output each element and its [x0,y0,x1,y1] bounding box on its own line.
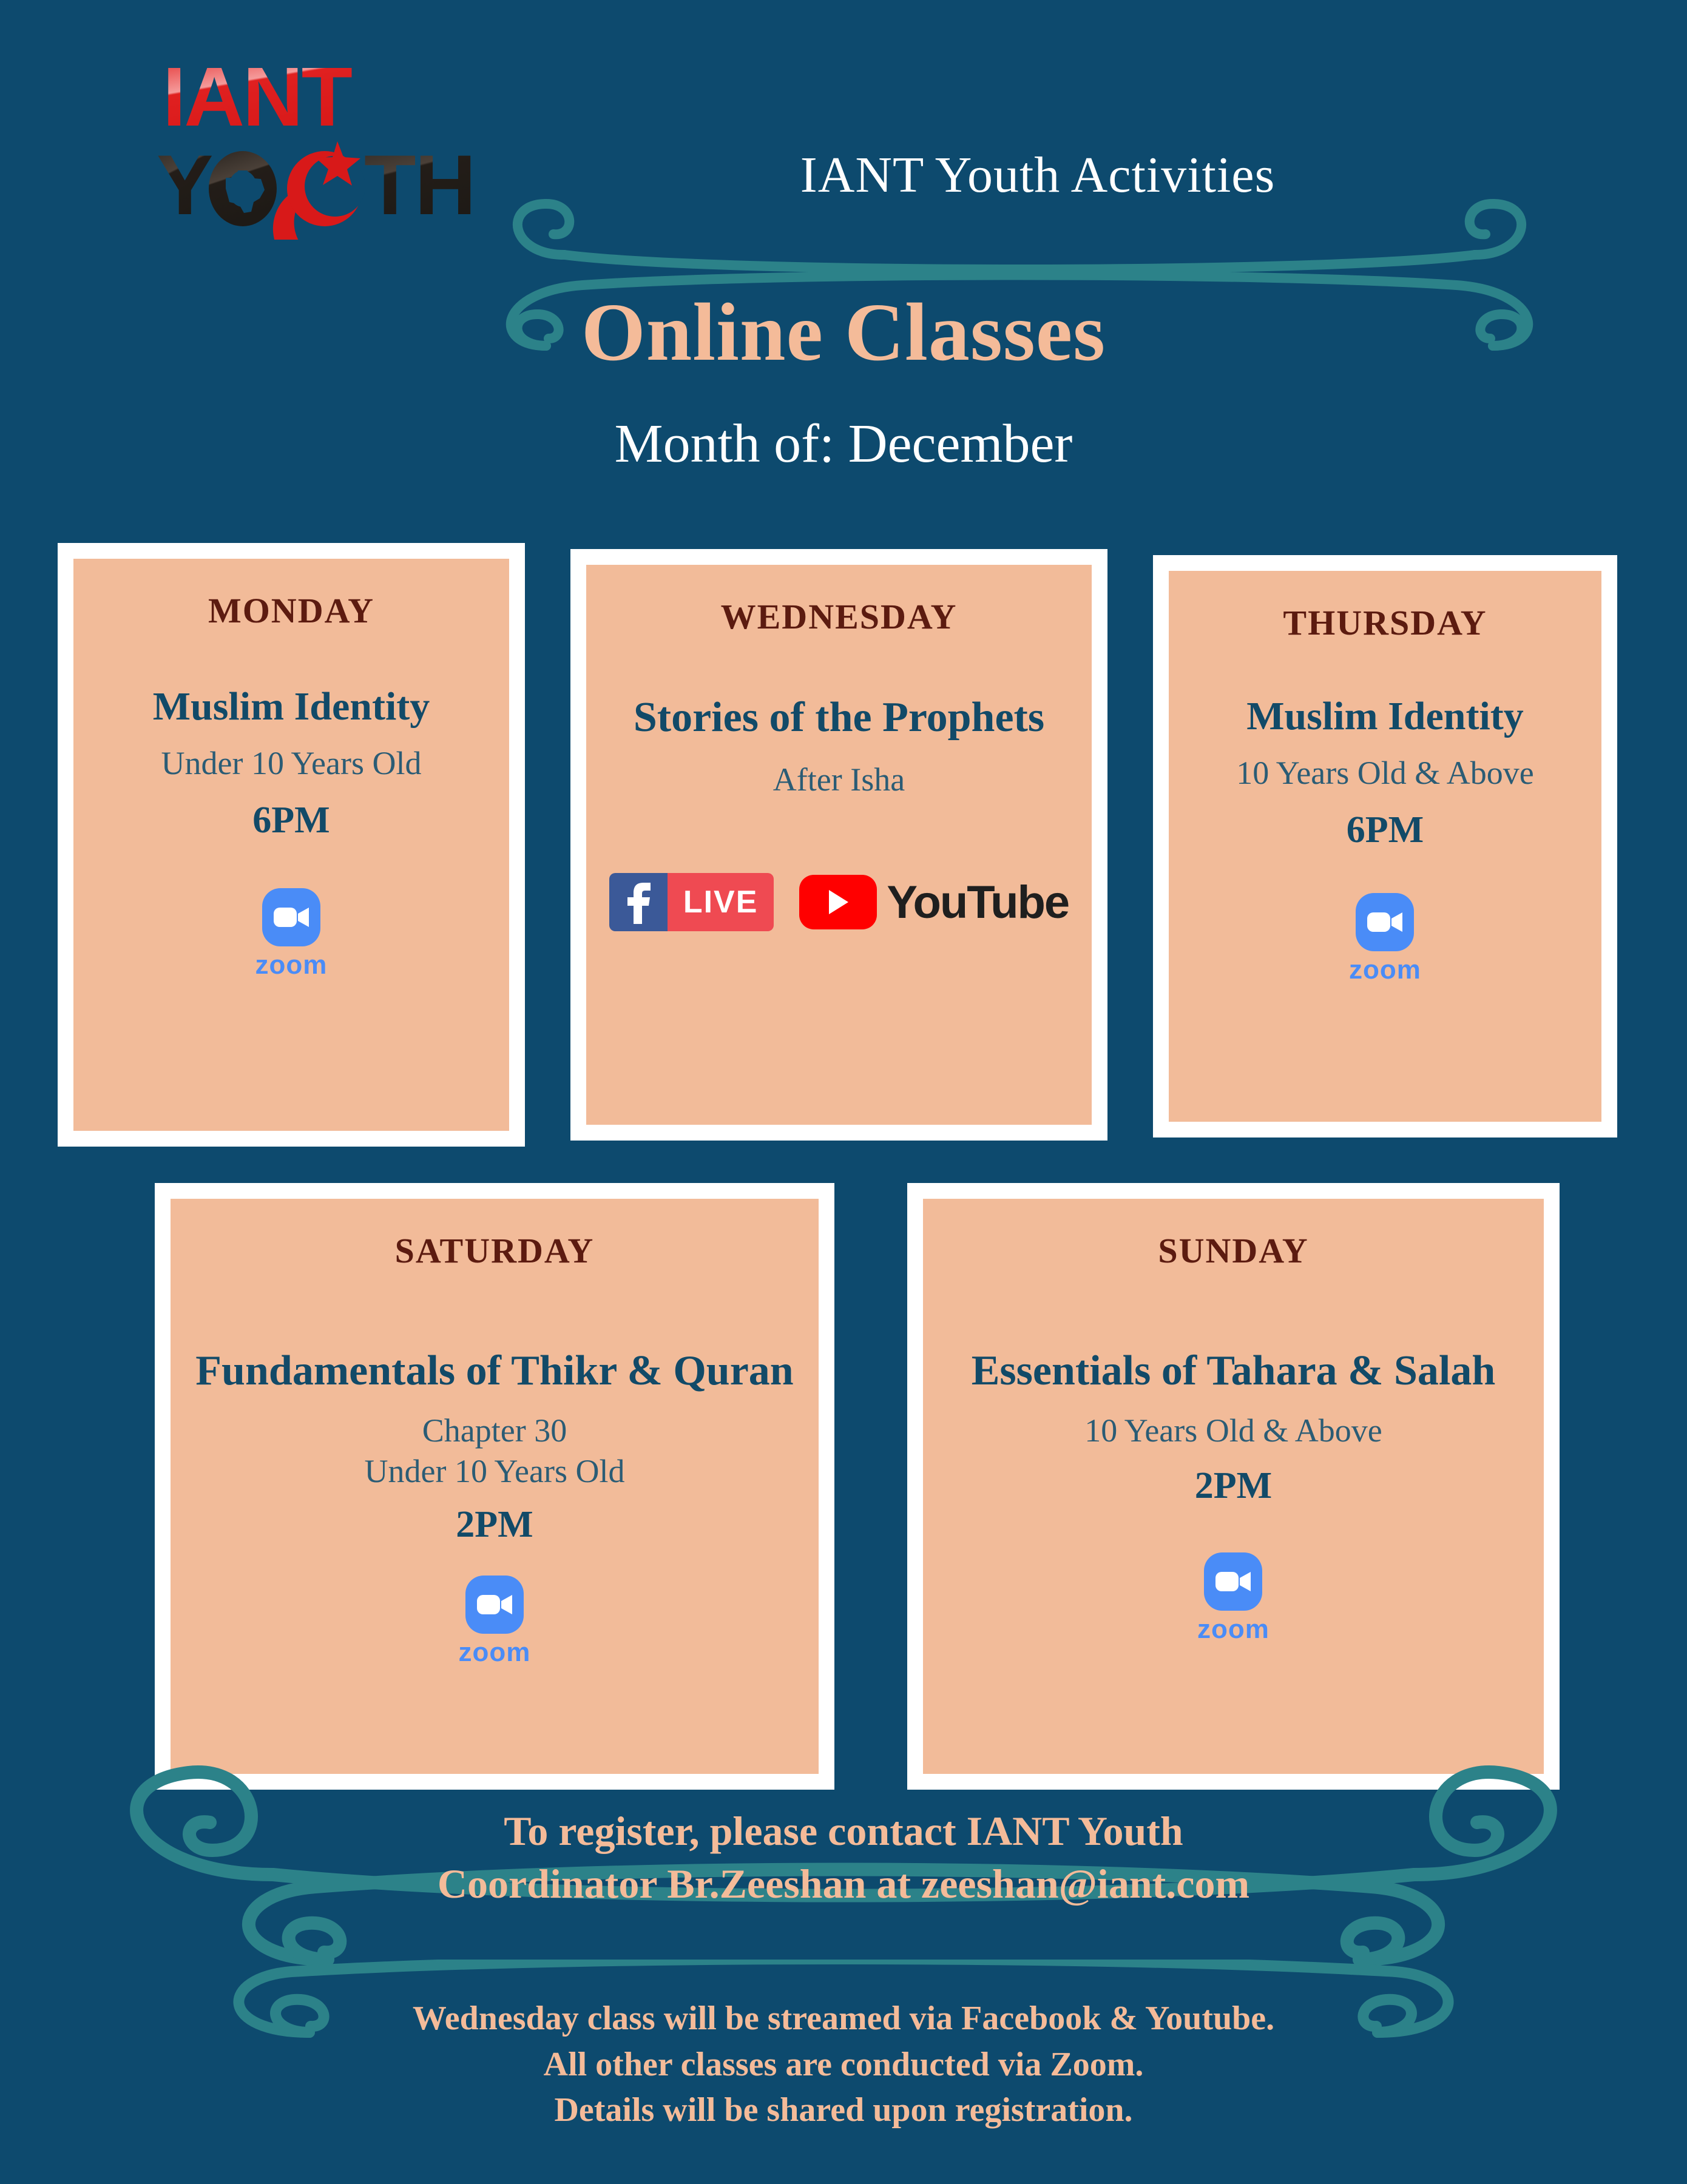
timing-line: After Isha [773,760,905,801]
zoom-wordmark: zoom [459,1637,531,1668]
zoom-logo: zoom [459,1576,531,1668]
day-label: SUNDAY [1158,1230,1308,1271]
day-label: WEDNESDAY [721,596,958,637]
zoom-logo: zoom [255,888,328,980]
zoom-wordmark: zoom [1197,1614,1269,1645]
zoom-icon [1356,893,1414,951]
month-subtitle: Month of: December [0,413,1687,475]
time-label: 6PM [1347,809,1424,852]
class-title: Muslim Identity [1240,695,1530,737]
time-label: 6PM [252,799,330,842]
time-label: 2PM [456,1503,533,1546]
day-label: MONDAY [208,590,374,631]
youtube-wordmark: YouTube [887,876,1069,929]
zoom-icon [465,1576,524,1634]
day-card-thursday: THURSDAY Muslim Identity 10 Years Old & … [1153,555,1617,1137]
zoom-wordmark: zoom [1349,955,1421,985]
chapter-line: Chapter 30 [422,1410,567,1452]
youtube-logo: YouTube [799,875,1069,929]
audience-line: Under 10 Years Old [365,1451,625,1492]
class-title: Essentials of Tahara & Salah [965,1349,1502,1394]
day-card-saturday: SATURDAY Fundamentals of Thikr & Quran C… [155,1183,834,1790]
live-badge: LIVE [668,873,774,931]
stream-platforms: LIVE YouTube [609,873,1069,931]
day-label: SATURDAY [395,1230,595,1271]
register-line-1: To register, please contact IANT Youth [0,1805,1687,1858]
page-title: Online Classes [0,285,1687,380]
day-card-sunday: SUNDAY Essentials of Tahara & Salah 10 Y… [907,1183,1560,1790]
iant-wordmark: IANT [163,52,352,144]
audience-line: 10 Years Old & Above [1236,753,1534,794]
note-line-1: Wednesday class will be streamed via Fac… [0,1996,1687,2042]
audience-line: 10 Years Old & Above [1084,1410,1382,1452]
note-line-2: All other classes are conducted via Zoom… [0,2042,1687,2088]
zoom-icon [1204,1552,1262,1611]
register-text: To register, please contact IANT Youth C… [0,1805,1687,1910]
register-line-2: Coordinator Br.Zeeshan at zeeshan@iant.c… [0,1858,1687,1910]
zoom-logo: zoom [1349,893,1421,985]
zoom-icon [262,888,320,946]
activities-title: IANT Youth Activities [0,146,1687,204]
class-title: Fundamentals of Thikr & Quran [189,1349,799,1394]
svg-text:IANT: IANT [163,52,352,144]
note-line-3: Details will be shared upon registration… [0,2088,1687,2134]
day-card-monday: MONDAY Muslim Identity Under 10 Years Ol… [58,543,525,1147]
time-label: 2PM [1195,1464,1272,1508]
zoom-logo: zoom [1197,1552,1269,1645]
class-title: Muslim Identity [147,686,436,727]
day-card-wednesday: WEDNESDAY Stories of the Prophets After … [570,549,1107,1141]
facebook-live-logo: LIVE [609,873,774,931]
class-title: Stories of the Prophets [627,695,1050,740]
day-label: THURSDAY [1283,602,1487,643]
facebook-icon [609,873,668,931]
notes-text: Wednesday class will be streamed via Fac… [0,1996,1687,2134]
youtube-play-icon [799,875,877,929]
zoom-wordmark: zoom [255,950,328,980]
audience-line: Under 10 Years Old [161,743,422,784]
